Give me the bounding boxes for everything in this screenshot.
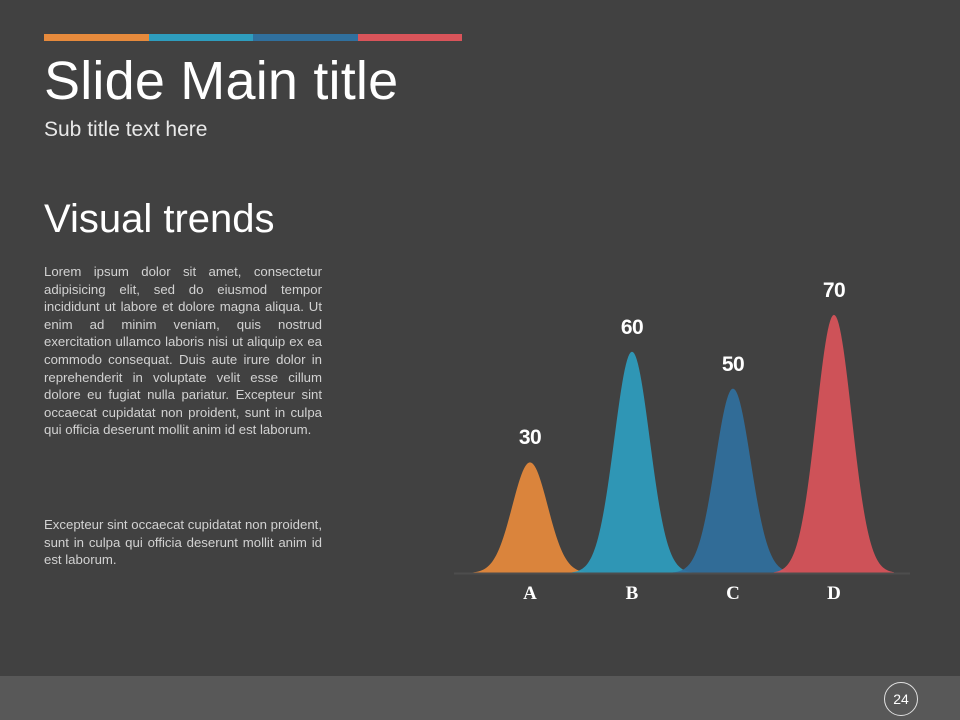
curve-a bbox=[470, 462, 590, 573]
accent-bar bbox=[44, 34, 462, 41]
accent-bar-segment-cyan bbox=[149, 34, 254, 41]
bell-curve-chart: 30A60B50C70D bbox=[440, 250, 940, 610]
accent-bar-segment-orange bbox=[44, 34, 149, 41]
curve-value-b: 60 bbox=[621, 316, 643, 340]
section-heading: Visual trends bbox=[44, 197, 275, 242]
curve-category-b: B bbox=[626, 583, 639, 605]
curve-category-a: A bbox=[523, 583, 537, 605]
curve-c bbox=[673, 389, 793, 573]
curve-value-d: 70 bbox=[823, 279, 845, 303]
curve-value-c: 50 bbox=[722, 353, 744, 377]
curve-value-a: 30 bbox=[519, 426, 541, 450]
body-paragraph-1: Lorem ipsum dolor sit amet, consectetur … bbox=[44, 263, 322, 439]
accent-bar-segment-blue bbox=[253, 34, 358, 41]
chart-svg bbox=[440, 250, 940, 580]
slide-canvas: Slide Main title Sub title text here Vis… bbox=[0, 0, 960, 720]
page-subtitle: Sub title text here bbox=[44, 118, 207, 142]
body-paragraph-2: Excepteur sint occaecat cupidatat non pr… bbox=[44, 516, 322, 569]
curve-b bbox=[572, 352, 692, 573]
accent-bar-segment-red bbox=[358, 34, 463, 41]
page-title: Slide Main title bbox=[44, 50, 398, 112]
footer-bar bbox=[0, 676, 960, 720]
curve-category-d: D bbox=[827, 583, 841, 605]
curve-d bbox=[774, 315, 894, 573]
curve-category-c: C bbox=[726, 583, 740, 605]
page-number-badge: 24 bbox=[884, 682, 918, 716]
